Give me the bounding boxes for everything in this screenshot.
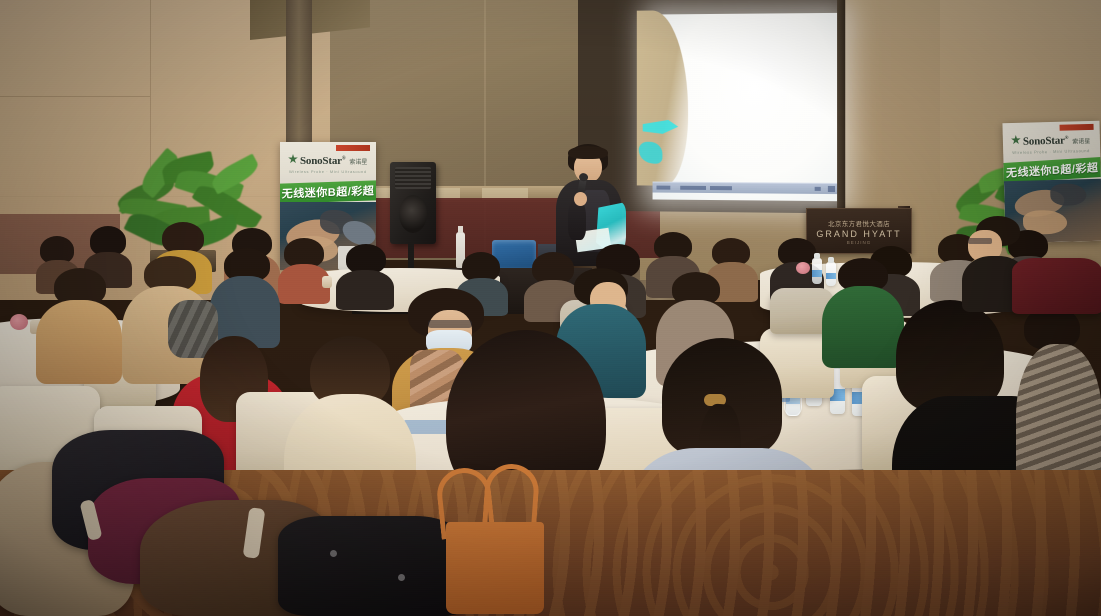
table-flower <box>10 314 28 330</box>
banner-brand-right: SonoStar® <box>1023 135 1069 148</box>
maroon-garment <box>1012 258 1101 314</box>
presenter-hand <box>574 192 587 206</box>
pa-speaker <box>390 162 436 244</box>
banner-brand-left: SonoStar® <box>300 155 345 167</box>
banner-top-tag <box>336 145 370 151</box>
water-bottle <box>812 258 822 284</box>
tote-body <box>446 522 544 614</box>
presenter-fringe <box>568 146 608 159</box>
banner-brand-cn-right: 索诺星 <box>1072 136 1090 145</box>
banner-logo-left: SonoStar® 索诺星 <box>288 154 367 167</box>
conference-photo: 北京东方君悦大酒店 GRAND HYATT BEIJING Sono <box>0 0 1101 616</box>
star-icon <box>288 154 298 164</box>
snap-button <box>398 574 405 581</box>
screen-bezel <box>837 0 845 213</box>
table-cup <box>322 276 332 288</box>
pa-speaker-bracket <box>408 242 414 268</box>
attendee-mid-left-3 <box>210 248 280 344</box>
attendee-back-6 <box>336 244 394 306</box>
banner-brand-cn-left: 索诺星 <box>349 157 367 166</box>
table-flower <box>796 262 810 274</box>
banner-headline-band-left: 无线迷你B超/彩超 <box>280 180 376 203</box>
venue-sign-sub: BEIJING <box>847 240 872 245</box>
banner-headline-right: 无线迷你B超/彩超 <box>1006 159 1099 181</box>
banner-logo-right: SonoStar® 索诺星 <box>1011 133 1091 148</box>
venue-sign-english: GRAND HYATT <box>816 229 901 239</box>
banner-headline-left: 无线迷你B超/彩超 <box>282 182 375 201</box>
presenter-arm <box>568 200 586 240</box>
banner-tagline-right: Wireless Probe · Mini Ultrasound <box>1012 148 1090 155</box>
wall-column <box>286 0 312 150</box>
speaker-grille <box>395 167 431 189</box>
attendee-back-5 <box>278 238 330 300</box>
snap-button <box>330 550 337 557</box>
eyeglasses <box>968 238 992 244</box>
projected-taskbar <box>653 182 840 195</box>
star-icon <box>1011 135 1021 145</box>
leather-tote-bag <box>432 462 544 612</box>
banner-top-tag-right <box>1060 124 1094 131</box>
attendee-mid-left-1 <box>36 268 122 378</box>
speaker-woofer <box>399 195 427 233</box>
venue-sign-chinese: 北京东方君悦大酒店 <box>828 218 890 228</box>
eyeglasses <box>428 320 472 328</box>
banner-tagline-left: Wireless Probe · Mini Ultrasound <box>289 169 367 174</box>
